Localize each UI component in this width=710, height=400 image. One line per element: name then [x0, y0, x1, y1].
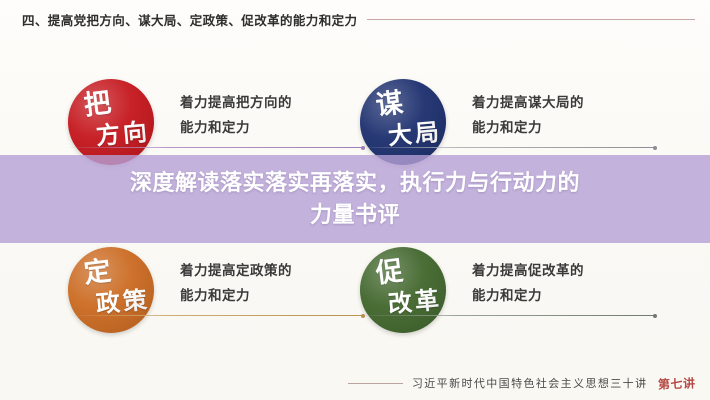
overlay-title-banner: 深度解读落实落实再落实，执行力与行动力的 力量书评	[0, 155, 710, 243]
footer-divider	[348, 383, 403, 384]
badge-char-primary: 促	[374, 257, 404, 287]
underline-dot	[653, 314, 657, 318]
badge-char-secondary: 方向	[95, 121, 151, 150]
overlay-title-line-1: 深度解读落实落实再落实，执行力与行动力的	[130, 167, 580, 199]
overlay-title-line-2: 力量书评	[310, 199, 400, 231]
concept-text-line-2: 能力和定力	[180, 284, 292, 309]
badge-characters: 谋 大局	[360, 79, 446, 165]
badge-char-primary: 把	[82, 89, 112, 119]
concept-underline	[64, 147, 364, 148]
concept-text-line-2: 能力和定力	[180, 116, 292, 141]
footer-seal-stamp: 第七讲	[658, 374, 696, 392]
concept-text-line-1: 着力提高把方向的	[180, 91, 292, 116]
concept-text-line-2: 能力和定力	[472, 284, 584, 309]
badge-circle-dingzhengce: 定 政策	[68, 247, 154, 333]
concept-cell-dingzhengce: 定 政策 着力提高定政策的 能力和定力	[68, 226, 368, 354]
concept-text-block: 着力提高把方向的 能力和定力	[180, 91, 292, 153]
concept-text-block: 着力提高定政策的 能力和定力	[180, 259, 292, 321]
badge-char-secondary: 大局	[387, 121, 443, 150]
concept-underline	[356, 315, 656, 316]
badge-characters: 定 政策	[68, 247, 154, 333]
badge-char-secondary: 改革	[387, 289, 443, 318]
slide-footer: 习近平新时代中国特色社会主义思想三十讲 第七讲	[0, 372, 710, 394]
badge-characters: 把 方向	[68, 79, 154, 165]
footer-source-text: 习近平新时代中国特色社会主义思想三十讲	[412, 375, 648, 391]
concept-cell-cugaige: 促 改革 着力提高促改革的 能力和定力	[360, 226, 660, 354]
slide-canvas: 四、提高党把方向、谋大局、定政策、促改革的能力和定力 把 方向 着力提高把方向的…	[0, 0, 710, 400]
page-title: 四、提高党把方向、谋大局、定政策、促改革的能力和定力	[22, 10, 357, 29]
concept-underline	[356, 147, 656, 148]
badge-circle-bafangxiang: 把 方向	[68, 79, 154, 165]
concept-text-line-1: 着力提高谋大局的	[472, 91, 584, 116]
slide-header: 四、提高党把方向、谋大局、定政策、促改革的能力和定力	[0, 6, 710, 32]
badge-char-primary: 谋	[374, 89, 404, 119]
concept-text-block: 着力提高谋大局的 能力和定力	[472, 91, 584, 153]
concept-text-line-2: 能力和定力	[472, 116, 584, 141]
concept-text-line-1: 着力提高定政策的	[180, 259, 292, 284]
concept-text-line-1: 着力提高促改革的	[472, 259, 584, 284]
concept-text-block: 着力提高促改革的 能力和定力	[472, 259, 584, 321]
header-divider	[367, 19, 695, 20]
badge-char-secondary: 政策	[95, 289, 151, 318]
badge-circle-moudaju: 谋 大局	[360, 79, 446, 165]
badge-char-primary: 定	[82, 257, 112, 287]
underline-dot	[653, 146, 657, 150]
badge-circle-cugaige: 促 改革	[360, 247, 446, 333]
concept-underline	[64, 315, 364, 316]
badge-characters: 促 改革	[360, 247, 446, 333]
